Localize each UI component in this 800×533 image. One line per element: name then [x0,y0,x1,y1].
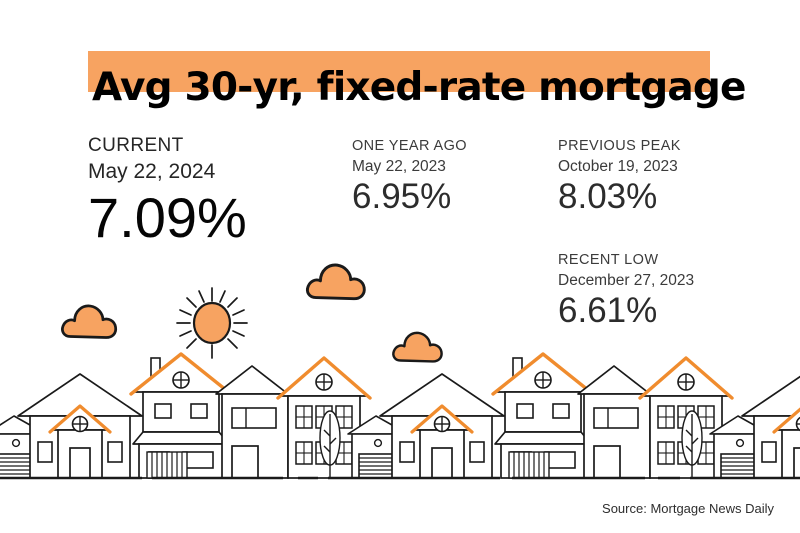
house-icon [380,374,504,478]
stat-current-label: CURRENT [88,133,247,158]
stat-one-year-ago: ONE YEAR AGO May 22, 2023 6.95% [352,136,467,214]
infographic-canvas: Avg 30-yr, fixed-rate mortgage CURRENT M… [0,0,800,533]
cloud-icon [393,333,441,362]
stat-one-year-ago-rate: 6.95% [352,179,467,214]
house-icon [216,358,370,478]
stat-current-date: May 22, 2024 [88,158,247,186]
fence-icon [147,452,187,478]
stat-current-rate: 7.09% [88,190,247,246]
sun-icon [177,288,247,358]
house-icon [578,358,732,478]
page-title: Avg 30-yr, fixed-rate mortgage [92,68,732,107]
fence-icon [509,452,549,478]
stat-previous-peak-rate: 8.03% [558,179,681,214]
stat-one-year-ago-date: May 22, 2023 [352,156,467,177]
stat-previous-peak: PREVIOUS PEAK October 19, 2023 8.03% [558,136,681,214]
stat-previous-peak-label: PREVIOUS PEAK [558,136,681,156]
stat-previous-peak-date: October 19, 2023 [558,156,681,177]
cloud-icon [307,265,364,299]
house-icon [18,374,142,478]
stat-one-year-ago-label: ONE YEAR AGO [352,136,467,156]
cloud-icon [62,306,115,338]
neighborhood-illustration [0,255,800,490]
source-attribution: Source: Mortgage News Daily [602,501,774,516]
stat-current: CURRENT May 22, 2024 7.09% [88,133,247,246]
title-area: Avg 30-yr, fixed-rate mortgage [0,34,800,98]
house-row [0,354,800,478]
